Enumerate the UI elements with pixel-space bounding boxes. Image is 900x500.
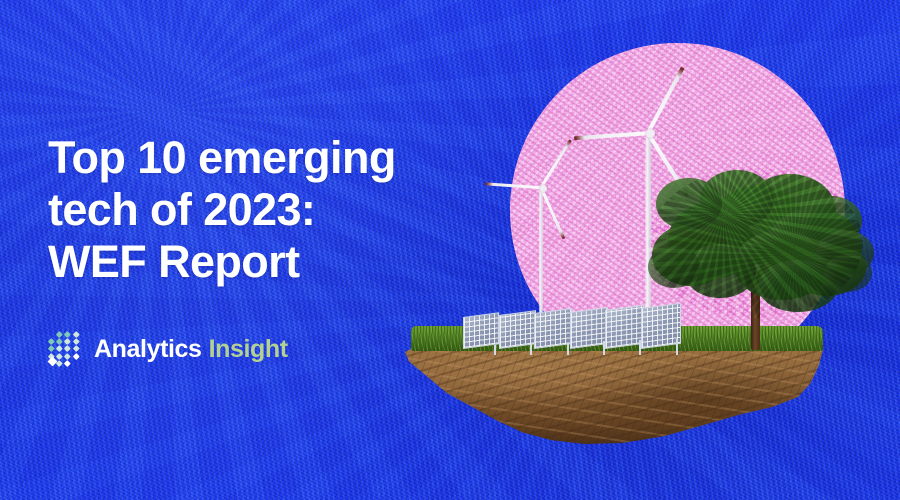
solar-panel-leg [494, 345, 496, 355]
logo-dot [56, 345, 62, 351]
tree-canopy-cluster [824, 254, 872, 292]
solar-panel-leg [530, 344, 532, 355]
logo-dot [64, 331, 70, 337]
solar-panel [463, 312, 499, 349]
turbine-blade [646, 67, 684, 134]
turbine-blade [485, 182, 541, 189]
promo-banner: Top 10 emerging tech of 2023: WEF Report… [0, 0, 900, 500]
rock-base [405, 346, 823, 444]
turbine-hub [646, 129, 655, 138]
logo-dot [48, 338, 54, 344]
turbine-blade [540, 187, 566, 239]
logo-dot-accent [48, 357, 58, 367]
headline-line-3: WEF Report [48, 236, 468, 288]
headline-line-1: Top 10 emerging [48, 132, 468, 184]
logo-dot [64, 345, 70, 351]
turbine-blade [540, 140, 572, 189]
brand-wordmark: AnalyticsInsight [94, 337, 288, 362]
brand-word-insight: Insight [209, 335, 288, 363]
brand-logo[interactable]: AnalyticsInsight [47, 331, 288, 367]
turbine-hub [540, 185, 547, 192]
logo-dot [56, 353, 62, 359]
logo-dot [56, 331, 62, 337]
analytics-insight-logo-icon [47, 331, 83, 367]
logo-dot [56, 338, 62, 344]
tree [648, 168, 863, 353]
headline-line-2: tech of 2023: [48, 184, 468, 236]
tree-canopy-cluster [648, 246, 700, 288]
tree-canopy-cluster [656, 178, 722, 230]
logo-dot [64, 353, 70, 359]
solar-panel-array [463, 291, 673, 349]
logo-dot [48, 345, 54, 351]
logo-dot [73, 345, 79, 351]
logo-dot [73, 338, 79, 344]
logo-dot [64, 338, 70, 344]
logo-dot [64, 360, 70, 366]
brand-word-analytics: Analytics [94, 335, 202, 363]
page-title: Top 10 emerging tech of 2023: WEF Report [48, 132, 468, 288]
logo-dot [73, 331, 79, 337]
solar-panel-leg [567, 343, 569, 355]
logo-dot [73, 353, 79, 359]
